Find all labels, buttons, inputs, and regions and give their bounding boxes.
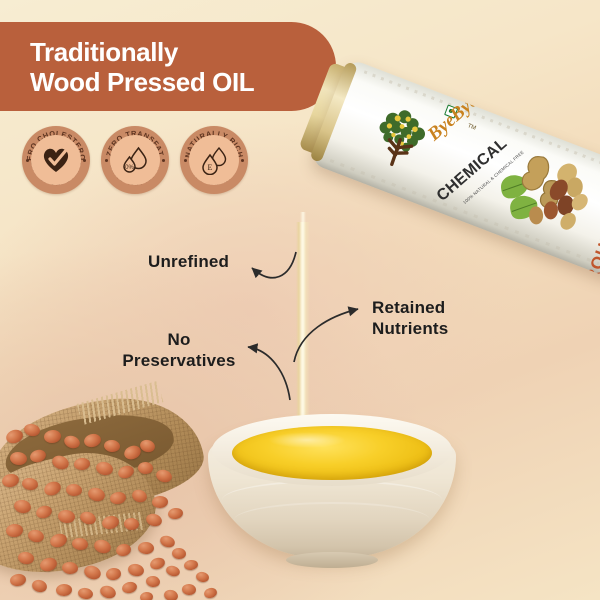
callout-no-preservatives: No Preservatives [108, 329, 250, 371]
badge-naturally-rich-vitamin-e: NATURALLY RICH IN VITAMIN E E [180, 126, 248, 194]
bowl-oil-highlight [268, 432, 346, 448]
product-poster: Traditionally Wood Pressed OIL ZERO CHOL… [0, 0, 600, 600]
badge-inner-disc [31, 135, 81, 185]
peanut [140, 591, 154, 600]
svg-text:E: E [208, 163, 213, 172]
callout-retained-nutrients-line2: Nutrients [372, 318, 448, 339]
banner-title-line1: Traditionally [30, 37, 336, 67]
arrow-to-unrefined [252, 252, 296, 278]
badge-inner-disc: 0% [110, 135, 160, 185]
droplet-vitamin-e-icon: E [199, 145, 229, 175]
heart-check-icon [41, 146, 71, 174]
arrow-to-no-preservatives [248, 347, 290, 400]
badge-row: ZERO CHOLESTEROL ZERO CHOLESTEROL [22, 126, 248, 194]
callout-unrefined-label: Unrefined [148, 252, 229, 271]
ceramic-bowl [208, 404, 456, 562]
droplet-zero-percent-icon: 0% [120, 145, 150, 175]
trademark-symbol: TM [467, 123, 477, 132]
callout-retained-nutrients: Retained Nutrients [372, 297, 448, 339]
badge-zero-cholesterol: ZERO CHOLESTEROL ZERO CHOLESTEROL [22, 126, 90, 194]
bowl-ridge-2 [234, 502, 430, 538]
badge-inner-disc: E [189, 135, 239, 185]
bottle-body: ByeBye TM CHEMICAL 100% NATURAL & CHEMIC… [310, 58, 600, 281]
callout-no-preservatives-line2: Preservatives [108, 350, 250, 371]
svg-text:0%: 0% [125, 165, 134, 171]
header-banner: Traditionally Wood Pressed OIL [0, 22, 336, 111]
banner-title-line2: Wood Pressed OIL [30, 67, 336, 97]
callout-no-preservatives-line1: No [108, 329, 250, 350]
bowl-foot [286, 552, 378, 568]
callout-unrefined: Unrefined [148, 251, 229, 272]
callout-retained-nutrients-line1: Retained [372, 297, 448, 318]
badge-zero-transfat: ZERO TRANSFAT ZERO TRANSFAT 0% [101, 126, 169, 194]
